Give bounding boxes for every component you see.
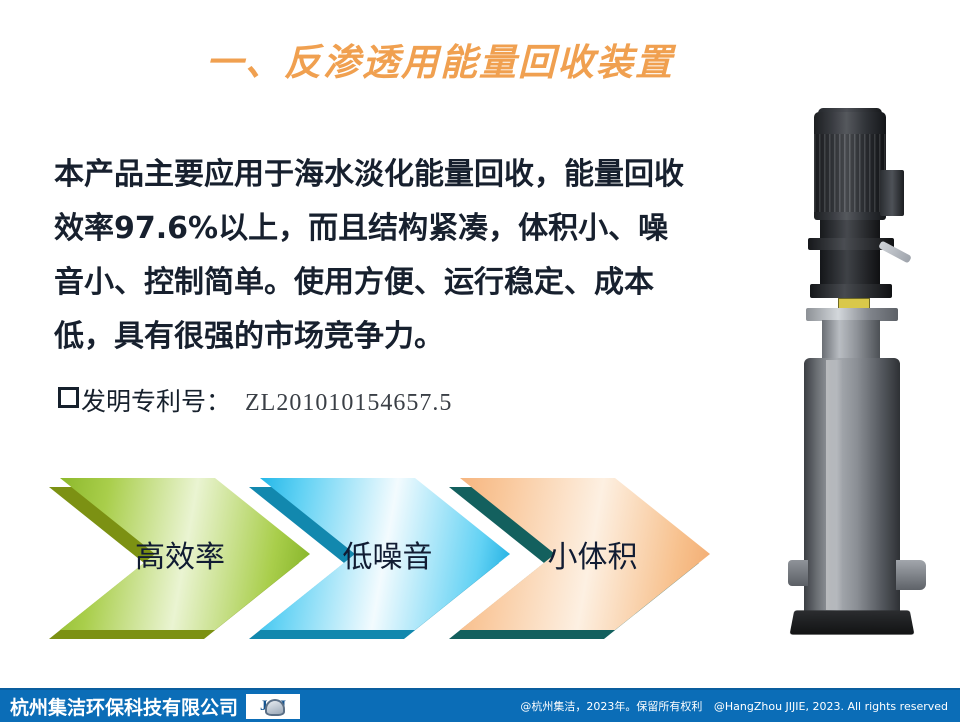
pump-valve-handle [878,240,912,263]
footer-company-name: 杭州集洁环保科技有限公司 [10,693,238,720]
patent-number: ZL201010154657.5 [245,390,452,417]
patent-label: 发明专利号： [81,382,231,418]
pump-flange-middle [810,284,892,298]
pump-terminal-box [880,170,904,216]
square-bullet-icon [58,387,79,408]
logo-swirl-icon [265,699,285,716]
copyright-chinese: @杭州集洁，2023年。保留所有权利 [520,700,702,713]
chevron-small-volume: 小体积 [460,478,710,630]
slide-canvas: 一、反渗透用能量回收装置 本产品主要应用于海水淡化能量回收，能量回收效率97.6… [0,0,960,720]
patent-line: 发明专利号： ZL201010154657.5 [58,382,452,418]
pump-coupling [820,250,880,284]
pump-suction-port [788,560,808,586]
pump-neck [820,220,880,238]
pump-discharge-port [896,560,926,590]
chevron-label: 小体积 [548,532,638,576]
footer-copyright: @杭州集洁，2023年。保留所有权利 @HangZhou JIJIE, 2023… [520,698,948,714]
chevron-label: 高效率 [135,532,225,576]
feature-chevron-row: 高效率 低噪音 小体积 [60,478,690,630]
copyright-english: @HangZhou JIJIE, 2023. All rights reserv… [714,700,948,713]
company-logo: JJ [246,694,300,719]
pump-motor-fins [814,134,886,212]
chevron-label: 低噪音 [343,532,433,576]
pump-body-cylinder [804,358,900,614]
footer-bar: 杭州集洁环保科技有限公司 JJ @杭州集洁，2023年。保留所有权利 @Hang… [0,688,960,722]
body-paragraph: 本产品主要应用于海水淡化能量回收，能量回收效率97.6%以上，而且结构紧凑，体积… [54,148,694,364]
pump-body-highlight [826,360,842,610]
pump-base-plate [790,610,915,634]
product-photo-pump [762,108,958,660]
page-title: 一、反渗透用能量回收装置 [0,32,880,86]
